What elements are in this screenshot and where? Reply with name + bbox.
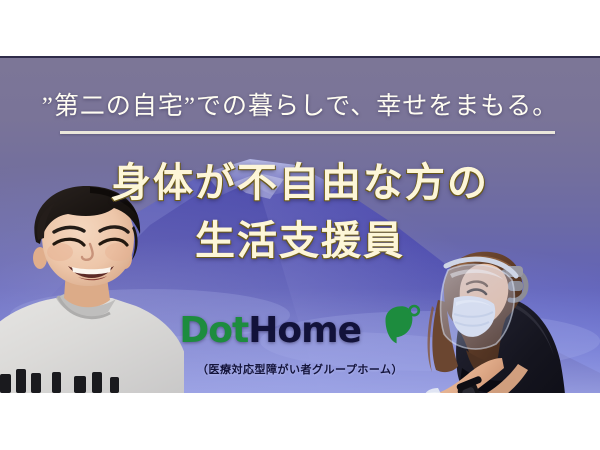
tagline-underline <box>60 131 555 134</box>
headline-line-1: 身体が不自由な方の <box>111 160 489 205</box>
top-white-margin <box>0 0 600 56</box>
logo-caption: （医療対応型障がい者グループホーム） <box>0 361 600 377</box>
bottom-white-margin <box>0 393 600 450</box>
banner-canvas: ”第二の自宅”での暮らしで、幸せをまもる。 身体が不自由な方の 生活支援員 Do… <box>0 56 600 393</box>
logo-wordmark: DotHome <box>179 304 420 355</box>
banner-image: ”第二の自宅”での暮らしで、幸せをまもる。 身体が不自由な方の 生活支援員 Do… <box>0 0 600 450</box>
headline-line-2: 生活支援員 <box>0 212 600 270</box>
logo-word-home: Home <box>248 310 361 351</box>
banner-tagline: ”第二の自宅”での暮らしで、幸せをまもる。 <box>0 86 600 122</box>
banner-top-rule <box>0 56 600 58</box>
logo-word-dot: Dot <box>179 310 248 351</box>
logo-block: DotHome （医療対応型障がい者グループホーム） <box>0 304 600 377</box>
banner-headline: 身体が不自由な方の 生活支援員 <box>0 154 600 270</box>
leaf-speech-bubble-mark <box>379 304 421 355</box>
